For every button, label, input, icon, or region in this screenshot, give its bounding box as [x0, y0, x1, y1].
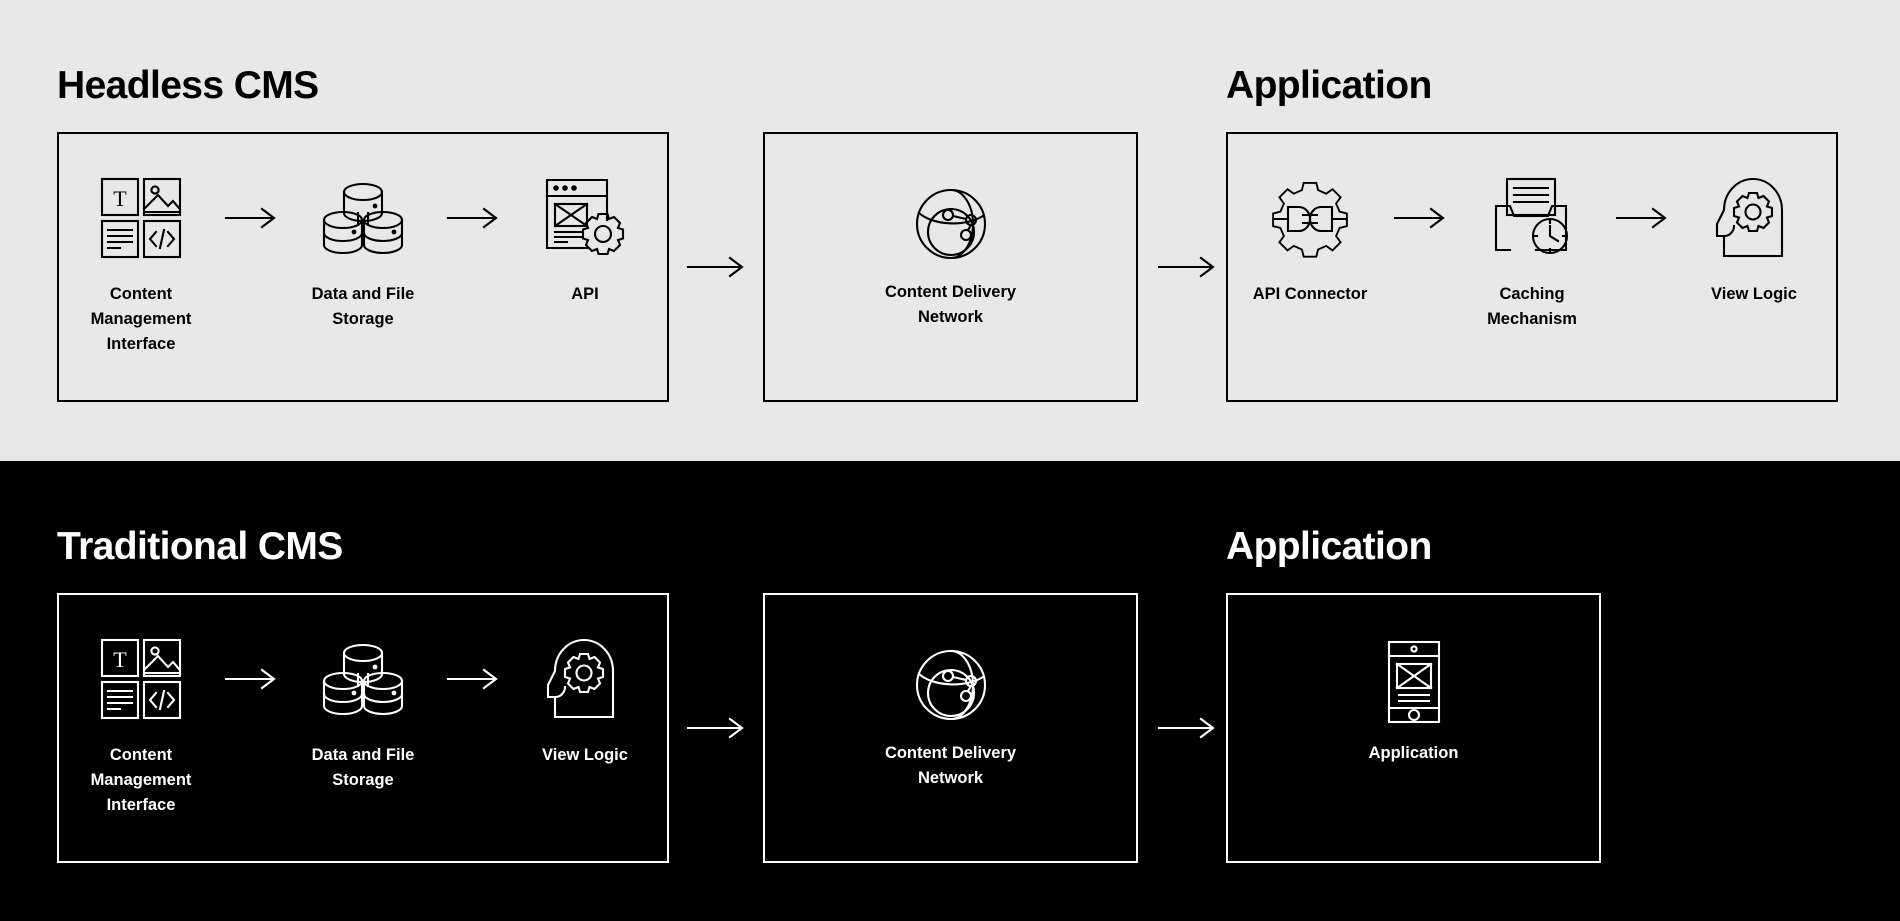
node-data-file-storage[interactable]: Data and File Storage [288, 170, 438, 332]
node-application[interactable]: Application [1294, 639, 1534, 766]
node-label: Caching Mechanism [1487, 282, 1577, 332]
node-view-logic[interactable]: View Logic [510, 631, 660, 768]
headless-cms-heading: Headless CMS [57, 64, 319, 108]
content-management-interface-icon: T [98, 170, 184, 266]
headless-cms-panel: T Content Management Interface [57, 132, 669, 402]
node-content-delivery-network[interactable]: Content Delivery Network [831, 184, 1071, 330]
node-label: Content Delivery Network [885, 280, 1016, 330]
node-content-management-interface[interactable]: T Content Management Interface [66, 631, 216, 818]
node-label: View Logic [1711, 282, 1797, 307]
application-panel-top: API Connector [1226, 132, 1838, 402]
arrow-right-icon [1152, 708, 1224, 748]
node-api-connector[interactable]: API Connector [1235, 170, 1385, 307]
headless-cms-section: Headless CMS Application T [0, 0, 1900, 461]
node-data-file-storage[interactable]: Data and File Storage [288, 631, 438, 793]
node-label: Data and File Storage [312, 282, 415, 332]
gear-plug-connector-icon [1266, 170, 1354, 266]
node-label: API Connector [1253, 282, 1368, 307]
application-heading-bottom: Application [1226, 525, 1432, 569]
application-panel-bottom: Application [1226, 593, 1601, 863]
node-content-management-interface[interactable]: T Content Management Interface [66, 170, 216, 357]
node-view-logic[interactable]: View Logic [1679, 170, 1829, 307]
arrow-right-icon [216, 170, 288, 266]
node-api[interactable]: API [510, 170, 660, 307]
traditional-cms-heading: Traditional CMS [57, 525, 343, 569]
traditional-cms-section: Traditional CMS Application T [0, 461, 1900, 921]
node-caching-mechanism[interactable]: Caching Mechanism [1457, 170, 1607, 332]
api-window-gear-icon [541, 170, 629, 266]
node-label: Application [1369, 741, 1459, 766]
node-label: Content Delivery Network [885, 741, 1016, 791]
node-label: Data and File Storage [312, 743, 415, 793]
cdn-panel-top: Content Delivery Network [763, 132, 1138, 402]
node-content-delivery-network[interactable]: Content Delivery Network [831, 645, 1071, 791]
arrow-right-icon [681, 247, 753, 287]
arrow-right-icon [1607, 170, 1679, 266]
head-gear-icon [545, 631, 625, 727]
arrow-right-icon [1152, 247, 1224, 287]
arrow-right-icon [438, 170, 510, 266]
mobile-phone-app-icon [1383, 639, 1445, 725]
globe-network-icon [912, 645, 990, 725]
svg-text:T: T [113, 186, 127, 211]
node-label: View Logic [542, 743, 628, 768]
globe-network-icon [912, 184, 990, 264]
diagram-canvas: Headless CMS Application T [0, 0, 1900, 921]
svg-text:T: T [113, 647, 127, 672]
head-gear-icon [1714, 170, 1794, 266]
application-heading-top: Application [1226, 64, 1432, 108]
arrow-right-icon [438, 631, 510, 727]
arrow-right-icon [216, 631, 288, 727]
node-label: Content Management Interface [91, 282, 192, 357]
arrow-right-icon [1385, 170, 1457, 266]
arrow-right-icon [681, 708, 753, 748]
folder-clock-cache-icon [1488, 170, 1576, 266]
content-management-interface-icon: T [98, 631, 184, 727]
cdn-panel-bottom: Content Delivery Network [763, 593, 1138, 863]
node-label: API [571, 282, 599, 307]
node-label: Content Management Interface [91, 743, 192, 818]
database-storage-icon [318, 170, 408, 266]
traditional-cms-panel: T Content Management Interface [57, 593, 669, 863]
database-storage-icon [318, 631, 408, 727]
